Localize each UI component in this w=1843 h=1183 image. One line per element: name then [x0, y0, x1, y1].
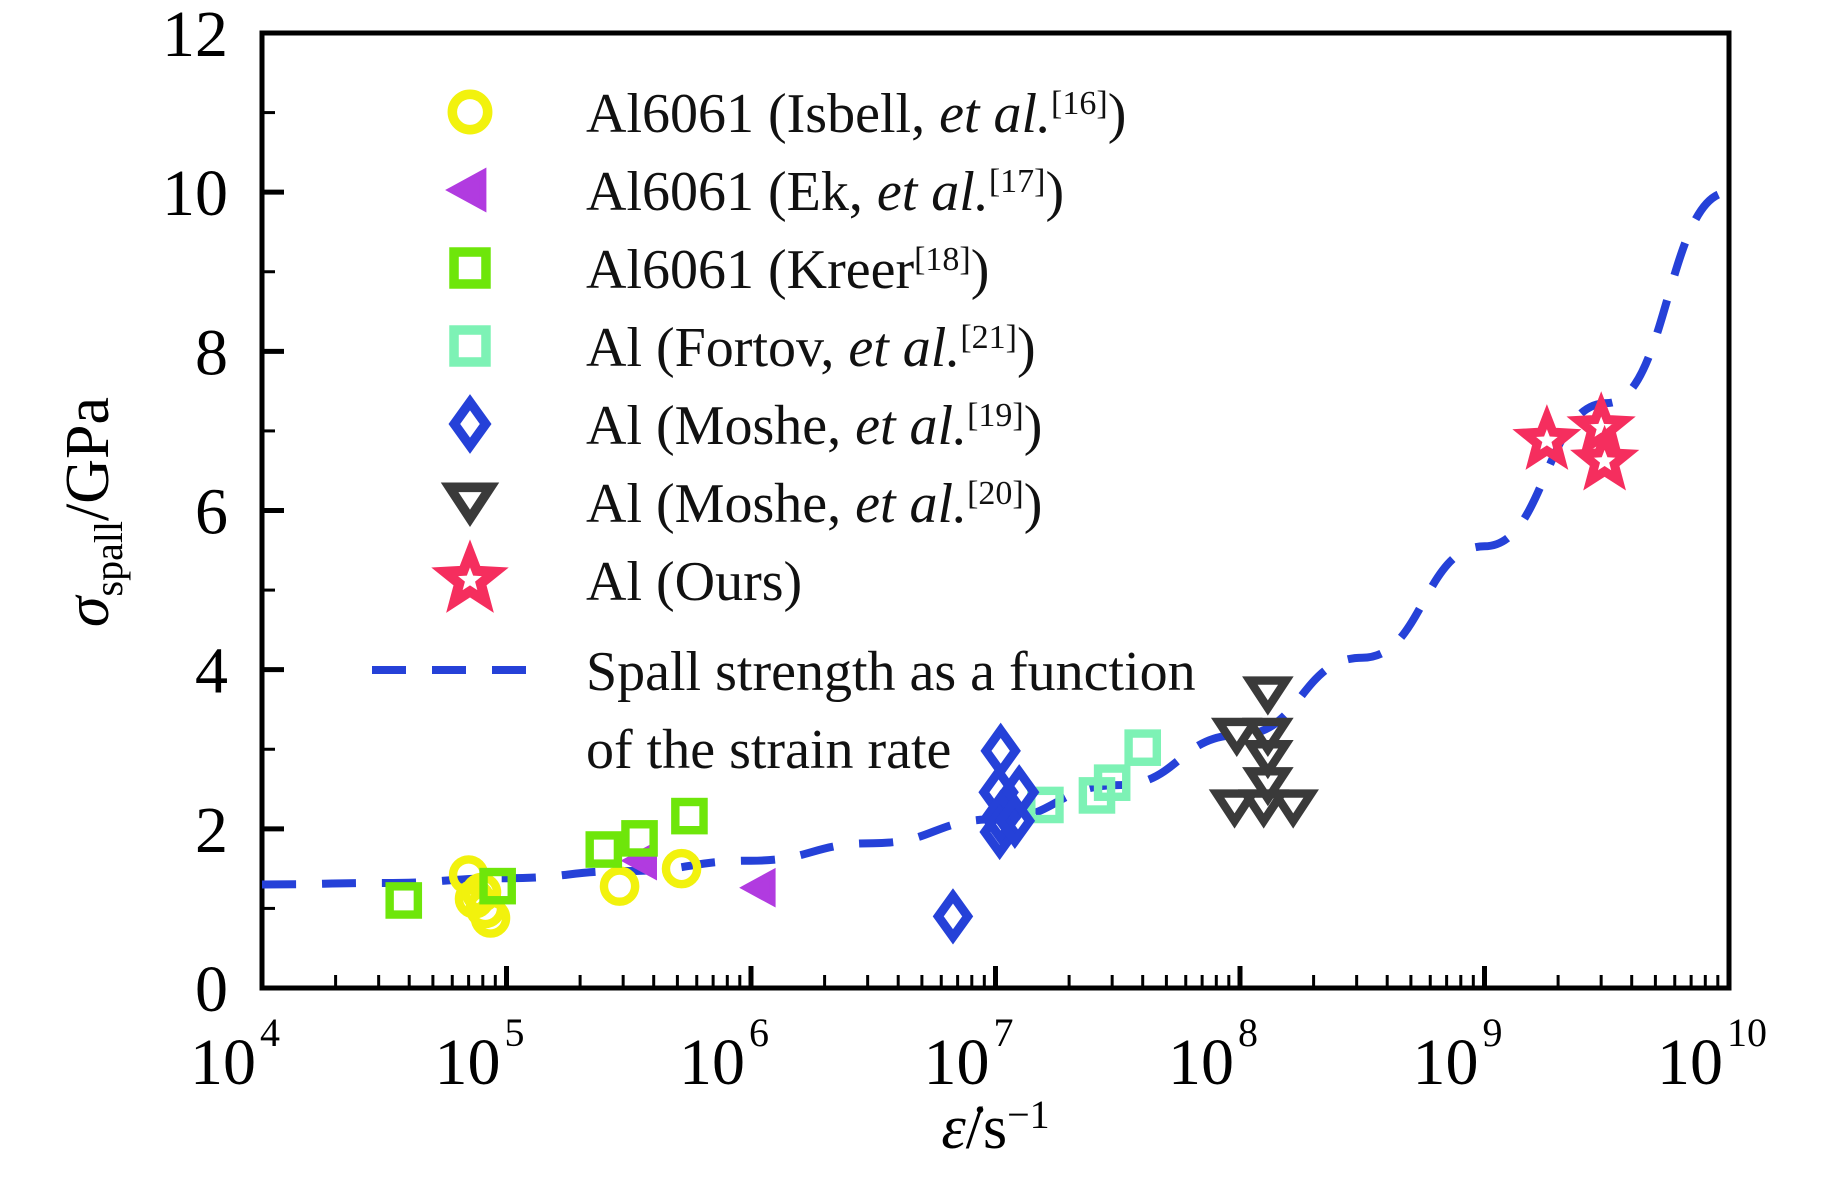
marker-diamond: [986, 730, 1015, 771]
legend-label: Al6061 (Ek, et al.[17]): [586, 161, 1064, 223]
y-tick-label: 12: [162, 0, 228, 71]
series-4-points: [938, 730, 1034, 936]
marker-diamond: [454, 402, 485, 446]
x-tick-label-base: 10: [1168, 1026, 1234, 1099]
marker-circle: [604, 871, 635, 902]
series-6-points: [1524, 404, 1627, 481]
x-tick-label: 106: [679, 1010, 769, 1099]
x-tick-label-exponent: 9: [1483, 1010, 1503, 1055]
x-tick-label-exponent: 10: [1727, 1010, 1767, 1055]
legend-label: Al (Fortov, et al.[21]): [586, 317, 1036, 379]
marker-square: [454, 330, 486, 362]
x-tick-label-exponent: 7: [994, 1010, 1014, 1055]
legend-label: Al (Moshe, et al.[20]): [586, 473, 1042, 535]
legend-label: Al (Moshe, et al.[19]): [586, 395, 1042, 457]
marker-triangle-down: [1250, 681, 1286, 708]
spall-strength-figure: 0246810121041051061071081091010Al6061 (I…: [0, 0, 1843, 1183]
series-5-points: [1217, 681, 1312, 821]
legend-item-3[interactable]: Al (Fortov, et al.[21]): [454, 317, 1036, 379]
marker-triangle-left: [745, 873, 772, 903]
legend-item-1[interactable]: Al6061 (Ek, et al.[17]): [452, 161, 1064, 223]
legend-label: Al6061 (Kreer[18]): [586, 239, 989, 301]
x-tick-label-base: 10: [1413, 1026, 1479, 1099]
legend-label: Al6061 (Isbell, et al.[16]): [586, 83, 1126, 145]
x-axis-title: ε̇/s−1: [941, 1092, 1049, 1162]
y-tick-label: 6: [195, 476, 228, 549]
x-tick-label-exponent: 4: [260, 1010, 280, 1055]
marker-square: [675, 802, 703, 830]
marker-triangle-down: [450, 487, 491, 518]
y-tick-label: 10: [162, 157, 228, 230]
x-tick-label-base: 10: [679, 1026, 745, 1099]
y-tick-label: 8: [195, 316, 228, 389]
x-tick-label: 107: [924, 1010, 1014, 1099]
marker-square: [1129, 734, 1157, 762]
y-axis-title: σspall/GPa: [54, 397, 131, 627]
data-point: [745, 873, 772, 903]
marker-circle: [452, 94, 487, 129]
x-tick-label-base: 10: [435, 1026, 501, 1099]
legend-label: Al (Ours): [586, 551, 802, 613]
data-point: [390, 886, 418, 914]
marker-diamond: [938, 896, 967, 937]
chart-canvas: 0246810121041051061071081091010Al6061 (I…: [0, 0, 1843, 1183]
x-tick-label: 1010: [1657, 1010, 1767, 1099]
x-tick-label: 108: [1168, 1010, 1258, 1099]
marker-square: [590, 835, 618, 863]
data-point: [1250, 681, 1286, 708]
data-point: [675, 802, 703, 830]
data-point: [986, 730, 1015, 771]
legend-item-fit[interactable]: Spall strength as a functionof the strai…: [372, 641, 1196, 781]
marker-star: [1524, 417, 1569, 460]
marker-triangle-down: [1275, 794, 1311, 821]
x-tick-label-exponent: 8: [1238, 1010, 1258, 1055]
legend-fit-label-line2: of the strain rate: [586, 719, 951, 781]
legend-item-5[interactable]: Al (Moshe, et al.[20]): [450, 473, 1043, 535]
x-tick-label-exponent: 5: [505, 1010, 525, 1055]
x-tick-label-exponent: 6: [749, 1010, 769, 1055]
series-0-points: [453, 853, 697, 934]
x-tick-label-base: 10: [190, 1026, 256, 1099]
x-tick-label: 105: [435, 1010, 525, 1099]
y-tick-label: 4: [195, 635, 228, 708]
x-tick-label: 109: [1413, 1010, 1503, 1099]
x-axis-title-text: ε̇/s−1: [941, 1092, 1049, 1162]
data-point: [1275, 794, 1311, 821]
marker-triangle-left: [452, 173, 483, 207]
legend-item-6[interactable]: Al (Ours): [445, 551, 802, 613]
y-axis-title-text: σspall/GPa: [54, 397, 131, 627]
legend-item-2[interactable]: Al6061 (Kreer[18]): [454, 239, 989, 301]
x-tick-label-base: 10: [924, 1026, 990, 1099]
data-point: [604, 871, 635, 902]
marker-square: [390, 886, 418, 914]
data-point: [590, 835, 618, 863]
legend-item-0[interactable]: Al6061 (Isbell, et al.[16]): [452, 83, 1126, 145]
y-tick-label: 2: [195, 794, 228, 867]
x-tick-label-base: 10: [1657, 1026, 1723, 1099]
data-point: [1524, 417, 1569, 460]
marker-star: [445, 553, 496, 601]
data-point: [938, 896, 967, 937]
y-tick-label: 0: [195, 953, 228, 1026]
marker-square: [454, 252, 486, 284]
legend-fit-label-line1: Spall strength as a function: [586, 641, 1196, 703]
data-point: [1129, 734, 1157, 762]
legend-item-4[interactable]: Al (Moshe, et al.[19]): [454, 395, 1042, 457]
